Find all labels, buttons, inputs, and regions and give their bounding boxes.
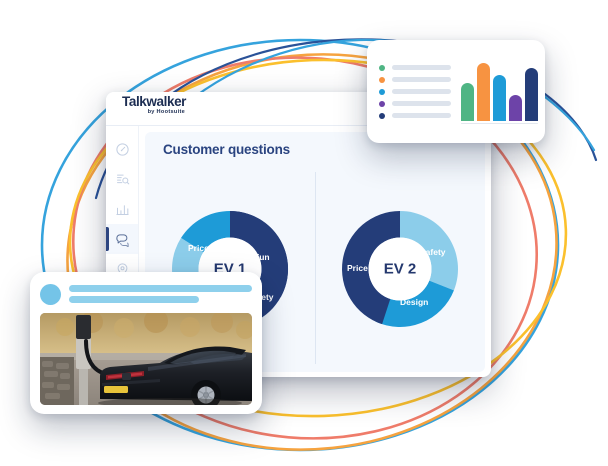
legend-dot-icon <box>379 77 385 83</box>
gauge-icon <box>115 142 130 157</box>
page-title: Customer questions <box>163 142 290 157</box>
donut-chart-ev2[interactable]: Safety Design Price EV 2 <box>338 207 462 331</box>
bar-2[interactable] <box>477 63 490 121</box>
chart-cell-ev2: Safety Design Price EV 2 <box>315 166 485 372</box>
legend-placeholder-bar <box>392 89 451 94</box>
post-placeholder-text <box>69 285 252 303</box>
social-post-card <box>30 272 262 414</box>
bar-1[interactable] <box>461 83 474 121</box>
speech-bubble-icon <box>115 232 130 247</box>
legend-dot-icon <box>379 113 385 119</box>
legend-item[interactable] <box>379 89 451 95</box>
legend-dot-icon <box>379 89 385 95</box>
brand-tagline: by Hootsuite <box>122 110 186 116</box>
legend-placeholder-bar <box>392 65 451 70</box>
document-search-icon <box>115 172 130 187</box>
ev-charging-photo <box>40 313 252 405</box>
post-header <box>40 282 252 306</box>
avatar <box>40 284 61 305</box>
legend-dot-icon <box>379 101 385 107</box>
legend-item[interactable] <box>379 113 451 119</box>
bar-chart-icon <box>115 202 130 217</box>
donut-center-ev2: EV 2 <box>384 261 417 278</box>
promo-illustration: Talkwalker by Hootsuite <box>0 0 608 466</box>
bar-3[interactable] <box>493 75 506 121</box>
sidebar-item-search[interactable] <box>106 164 138 194</box>
sidebar-item-analytics[interactable] <box>106 194 138 224</box>
legend-dot-icon <box>379 65 385 71</box>
legend-placeholder-bar <box>392 101 451 106</box>
legend-placeholder-bar <box>392 113 451 118</box>
legend-item[interactable] <box>379 101 451 107</box>
placeholder-line <box>69 296 199 303</box>
bar-chart-plot <box>461 59 538 124</box>
sidebar-item-conversations[interactable] <box>106 224 138 254</box>
brand-name: Talkwalker <box>122 95 186 109</box>
post-photo <box>40 313 252 405</box>
placeholder-line <box>69 285 252 292</box>
bar-4[interactable] <box>509 95 522 121</box>
sidebar-item-dashboard[interactable] <box>106 134 138 164</box>
bar-chart-legend <box>379 59 451 125</box>
legend-item[interactable] <box>379 65 451 71</box>
legend-placeholder-bar <box>392 77 451 82</box>
legend-item[interactable] <box>379 77 451 83</box>
bar-chart-card <box>367 40 545 143</box>
bar-5[interactable] <box>525 68 538 121</box>
brand-logo[interactable]: Talkwalker by Hootsuite <box>122 95 186 115</box>
